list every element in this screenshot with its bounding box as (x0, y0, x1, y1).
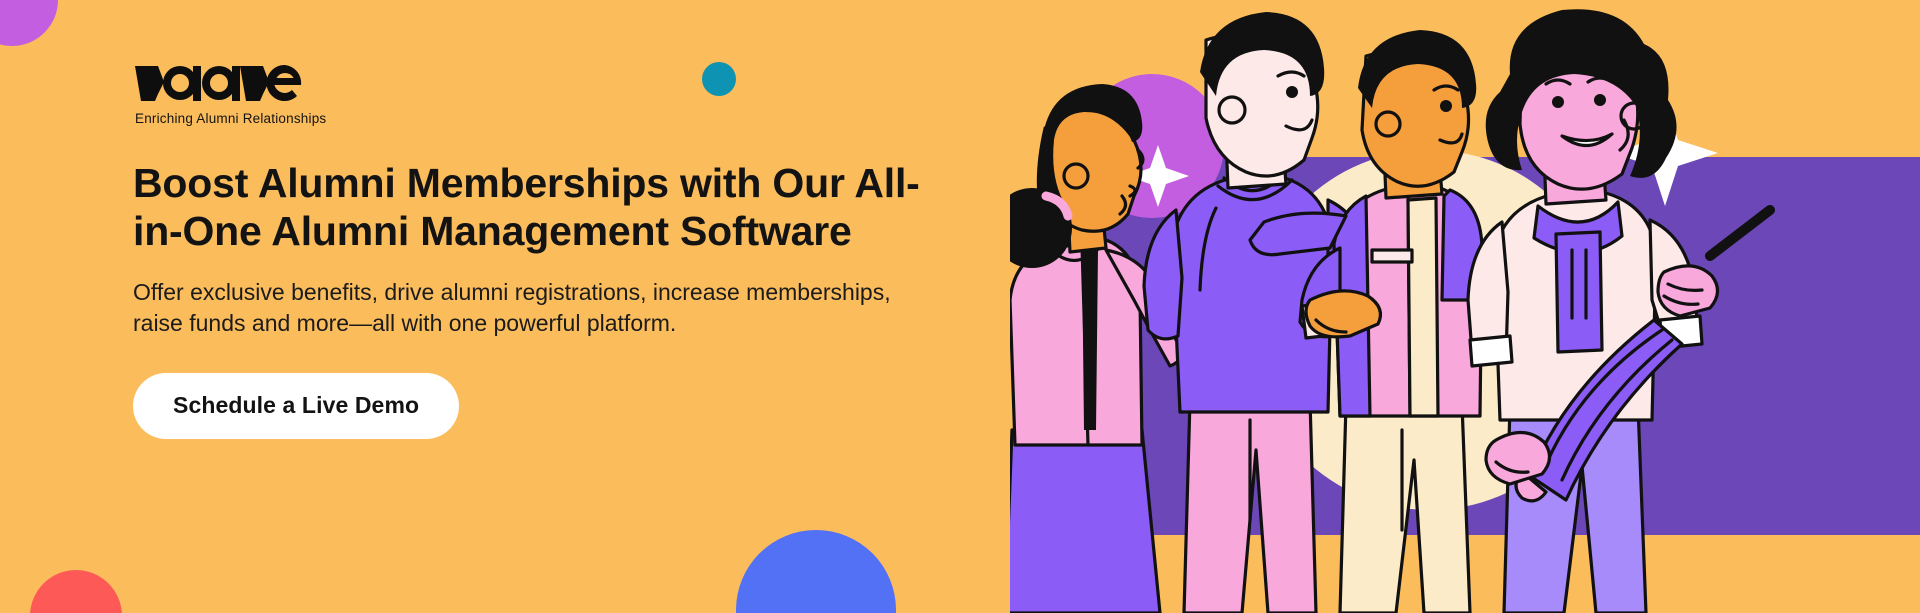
vaave-wordmark-icon (133, 60, 303, 106)
schedule-demo-button[interactable]: Schedule a Live Demo (133, 373, 459, 439)
blue-circle-bottom-icon (736, 530, 896, 613)
brand-logo[interactable]: Enriching Alumni Relationships (133, 60, 933, 126)
brand-tagline: Enriching Alumni Relationships (135, 111, 933, 126)
purple-circle-top-left-icon (0, 0, 58, 46)
hero-banner: Enriching Alumni Relationships Boost Alu… (0, 0, 1920, 613)
hero-content: Enriching Alumni Relationships Boost Alu… (133, 60, 933, 439)
hero-illustration (1010, 0, 1920, 613)
coral-circle-bottom-left-icon (30, 570, 122, 613)
page-title: Boost Alumni Memberships with Our All-in… (133, 160, 923, 255)
page-subtitle: Offer exclusive benefits, drive alumni r… (133, 277, 923, 339)
